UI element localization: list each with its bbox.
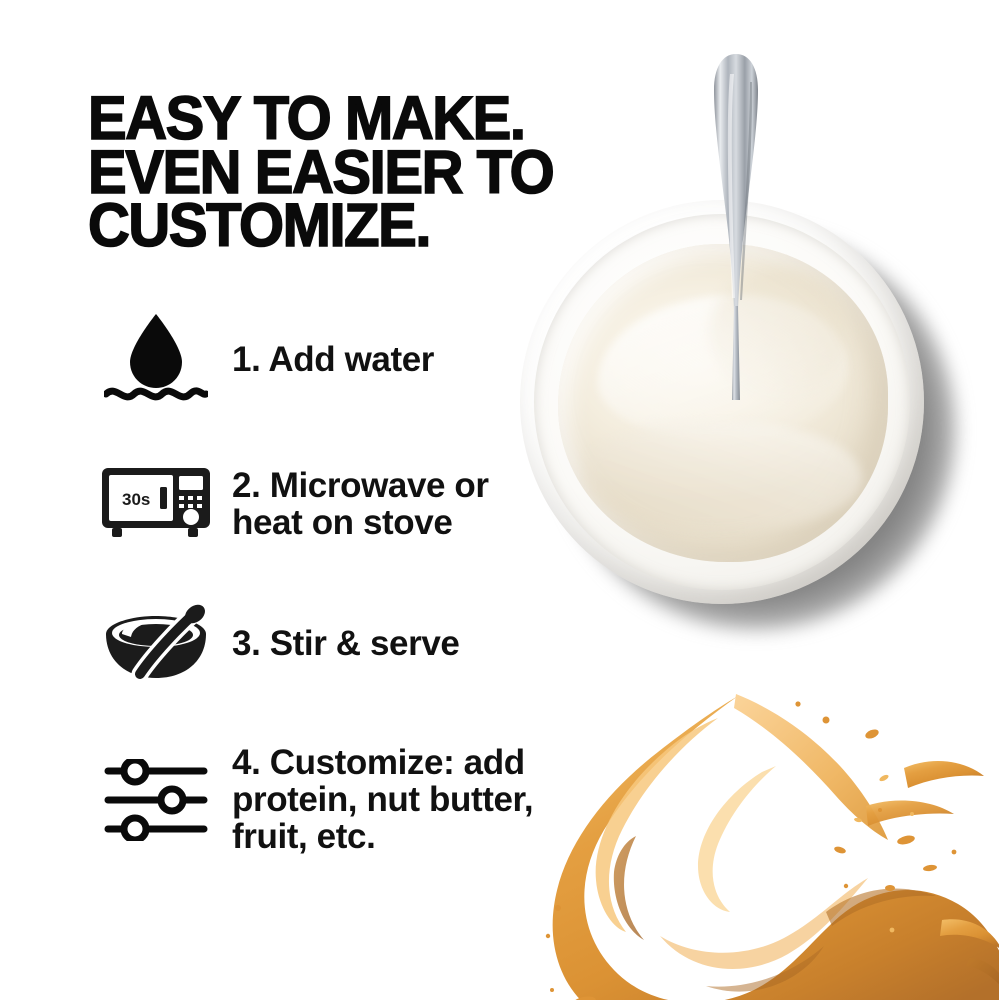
step-4-number: 4. — [232, 744, 260, 781]
step-3-label: Stir & serve — [270, 624, 460, 663]
step-4-icon-slot — [92, 759, 220, 841]
bowl-spoon-stir-icon — [100, 604, 212, 684]
list-item: 30s 2. Microwave or hea — [92, 466, 612, 542]
step-2-text: 2. Microwave or heat on stove — [220, 467, 489, 541]
step-4-label: Customize: add protein, nut butter, frui… — [232, 743, 533, 856]
step-1-text: 1. Add water — [220, 341, 434, 378]
list-item: 3. Stir & serve — [92, 604, 612, 684]
porridge-shadow-swirl — [584, 422, 861, 530]
step-1-label: Add water — [268, 340, 434, 379]
step-2-number: 2. — [232, 467, 260, 504]
step-1-icon-slot — [92, 312, 220, 408]
step-3-icon-slot — [92, 604, 220, 684]
water-drop-waves-icon — [104, 312, 208, 408]
step-1-number: 1. — [232, 341, 260, 378]
headline-line-3: CUSTOMIZE. — [88, 199, 620, 253]
porridge-texture — [710, 269, 849, 396]
sliders-icon — [104, 759, 208, 841]
step-2-icon-slot: 30s — [92, 466, 220, 542]
list-item: 1. Add water — [92, 312, 612, 408]
step-4-text: 4. Customize: add protein, nut butter, f… — [220, 744, 533, 855]
product-feature-poster: EASY TO MAKE. EVEN EASIER TO CUSTOMIZE. — [0, 0, 999, 1000]
list-item: 4. Customize: add protein, nut butter, f… — [92, 744, 612, 855]
step-3-text: 3. Stir & serve — [220, 625, 459, 662]
step-3-number: 3. — [232, 625, 260, 662]
microwave-timer-label: 30s — [122, 490, 150, 509]
step-2-label: Microwave or heat on stove — [232, 466, 489, 542]
page-title: EASY TO MAKE. EVEN EASIER TO CUSTOMIZE. — [88, 92, 620, 253]
instruction-steps-list: 1. Add water 30s — [92, 312, 612, 855]
microwave-icon: 30s — [100, 466, 212, 542]
